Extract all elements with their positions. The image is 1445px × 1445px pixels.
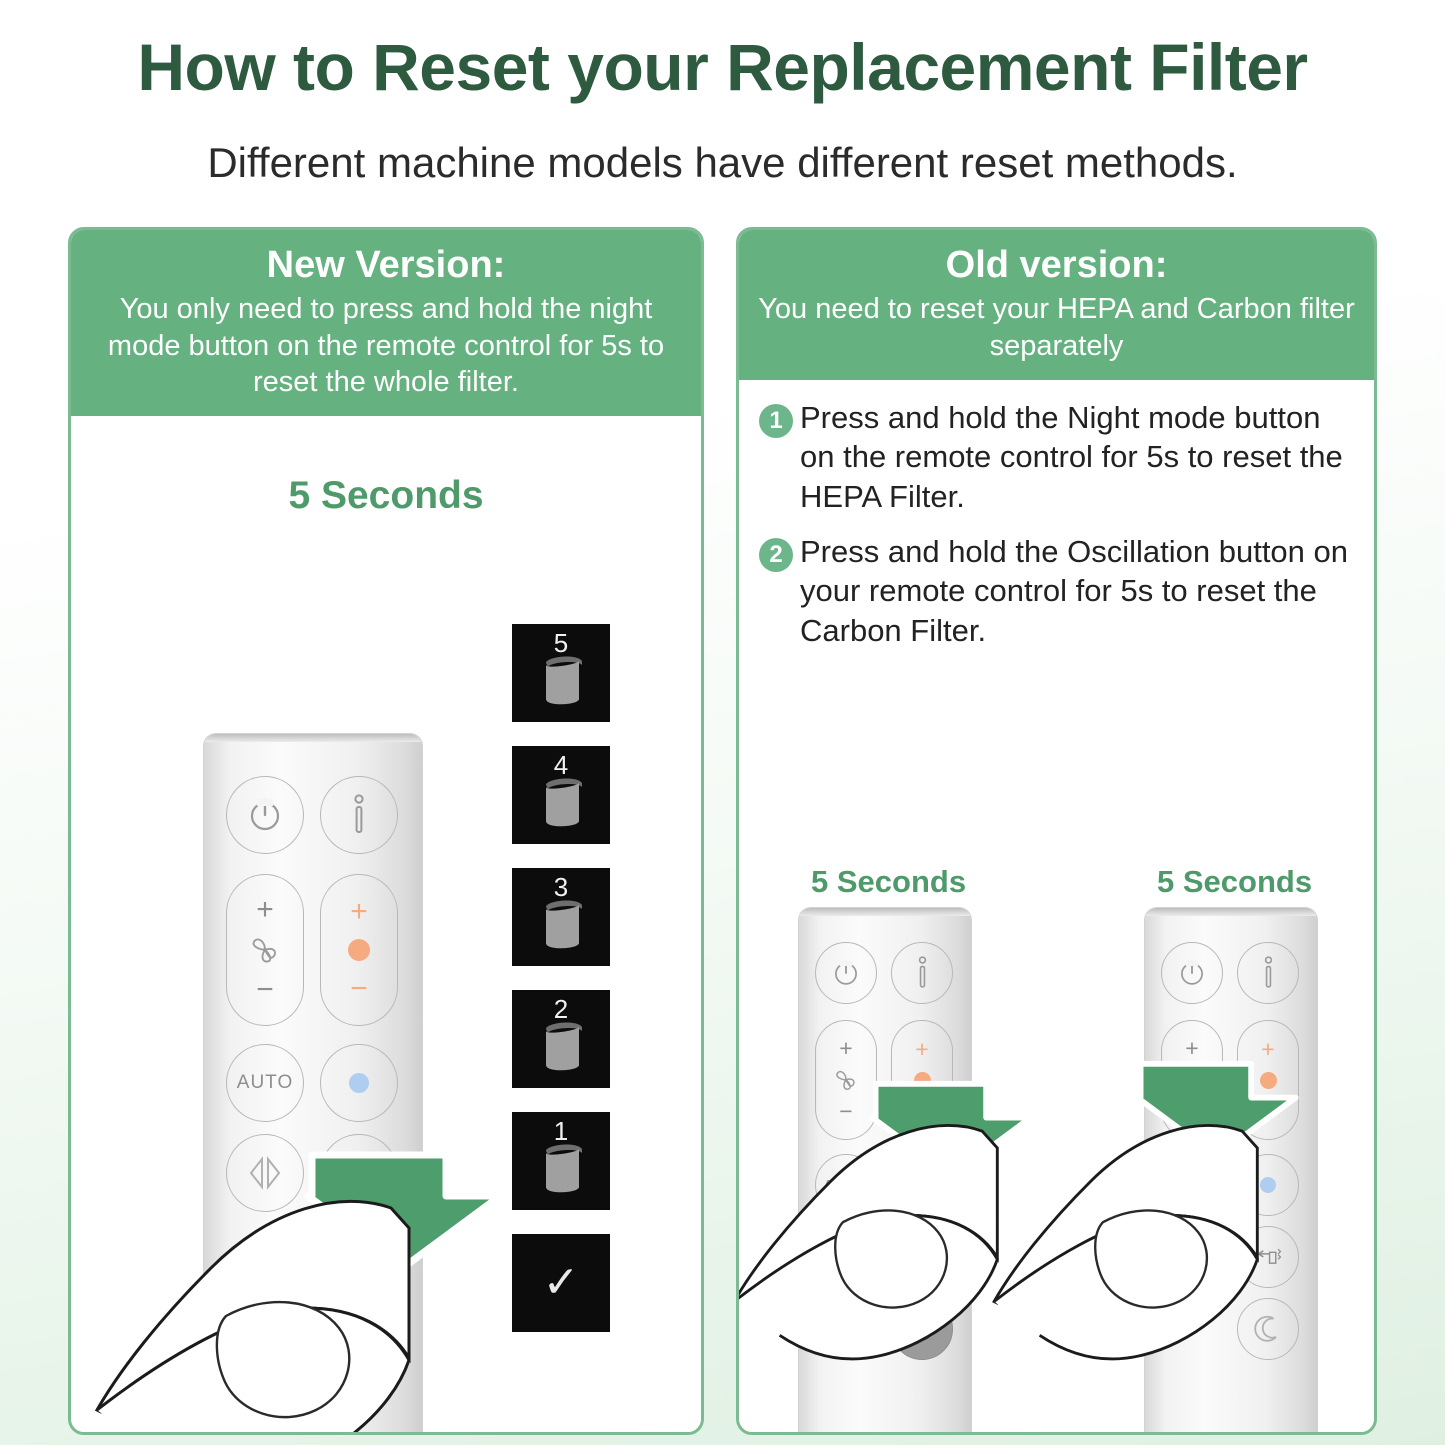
- fan-plus-label: +: [256, 895, 274, 925]
- countdown-frame: 2: [512, 990, 610, 1088]
- countdown-number: 1: [512, 1116, 610, 1147]
- filter-countdown-strip: 5 4 3: [512, 624, 620, 1344]
- countdown-number: 3: [512, 872, 610, 903]
- temp-plus-label: +: [915, 1038, 928, 1061]
- remote-top-lip: [799, 908, 971, 916]
- remote-top-lip: [1145, 908, 1317, 916]
- info-button[interactable]: [320, 776, 398, 854]
- new-version-header: New Version: You only need to press and …: [71, 230, 701, 416]
- remote-top-lip: [204, 734, 422, 742]
- old-version-description: You need to reset your HEPA and Carbon f…: [753, 291, 1360, 364]
- new-version-description: You only need to press and hold the nigh…: [85, 291, 687, 400]
- countdown-number: 5: [512, 628, 610, 659]
- fan-speed-button[interactable]: + −: [226, 874, 304, 1026]
- countdown-frame: 4: [512, 746, 610, 844]
- blue-dot-icon: [1260, 1177, 1276, 1193]
- check-icon: ✓: [543, 1261, 580, 1305]
- fan-minus-label: −: [256, 975, 274, 1005]
- oscillation-icon: [243, 1155, 287, 1191]
- list-item: 2 Press and hold the Oscillation button …: [759, 532, 1354, 650]
- power-button[interactable]: [226, 776, 304, 854]
- new-version-heading: New Version:: [85, 240, 687, 291]
- temp-plus-label: +: [350, 897, 368, 927]
- fan-icon: [832, 1068, 860, 1092]
- new-version-panel: New Version: You only need to press and …: [68, 227, 704, 1435]
- carbon-pressing-finger: [989, 1120, 1259, 1370]
- fan-plus-label: +: [839, 1037, 852, 1060]
- hepa-seconds-label: 5 Seconds: [811, 864, 966, 900]
- old-version-body: 1 Press and hold the Night mode button o…: [739, 380, 1374, 650]
- list-item: 1 Press and hold the Night mode button o…: [759, 398, 1354, 516]
- temp-plus-label: +: [1261, 1038, 1274, 1061]
- info-icon: [351, 794, 367, 836]
- page-subtitle: Different machine models have different …: [0, 140, 1445, 186]
- page-title: How to Reset your Replacement Filter: [0, 34, 1445, 100]
- step-number-badge: 2: [759, 538, 793, 572]
- power-icon: [832, 959, 860, 987]
- temp-minus-label: −: [350, 974, 368, 1004]
- countdown-frame: 5: [512, 624, 610, 722]
- info-button[interactable]: [1237, 942, 1299, 1004]
- countdown-number: 4: [512, 750, 610, 781]
- orange-dot-icon: [348, 939, 370, 961]
- countdown-frame: 1: [512, 1112, 610, 1210]
- left-seconds-label: 5 Seconds: [71, 474, 701, 518]
- blue-dot-icon: [349, 1073, 369, 1093]
- heat-mode-button[interactable]: [320, 1044, 398, 1122]
- power-button[interactable]: [1161, 942, 1223, 1004]
- old-version-heading: Old version:: [753, 240, 1360, 291]
- countdown-number: 2: [512, 994, 610, 1025]
- countdown-frame-complete: ✓: [512, 1234, 610, 1332]
- auto-button[interactable]: AUTO: [226, 1044, 304, 1122]
- carbon-seconds-label: 5 Seconds: [1157, 864, 1312, 900]
- old-version-header: Old version: You need to reset your HEPA…: [739, 230, 1374, 380]
- info-icon: [916, 956, 929, 990]
- left-pressing-finger: [91, 1198, 411, 1435]
- auto-label: AUTO: [237, 1072, 293, 1094]
- infographic-page: How to Reset your Replacement Filter Dif…: [0, 0, 1445, 1445]
- temperature-button[interactable]: + −: [320, 874, 398, 1026]
- old-version-panel: Old version: You need to reset your HEPA…: [736, 227, 1377, 1435]
- reset-steps-list: 1 Press and hold the Night mode button o…: [739, 380, 1374, 650]
- countdown-frame: 3: [512, 868, 610, 966]
- step-text: Press and hold the Oscillation button on…: [800, 532, 1354, 650]
- power-icon: [247, 797, 283, 833]
- power-icon: [1178, 959, 1206, 987]
- info-icon: [1262, 956, 1275, 990]
- hepa-pressing-finger: [736, 1120, 999, 1370]
- power-button[interactable]: [815, 942, 877, 1004]
- fan-icon: [247, 935, 283, 965]
- info-button[interactable]: [891, 942, 953, 1004]
- fan-plus-label: +: [1185, 1037, 1198, 1060]
- step-number-badge: 1: [759, 404, 793, 438]
- step-text: Press and hold the Night mode button on …: [800, 398, 1354, 516]
